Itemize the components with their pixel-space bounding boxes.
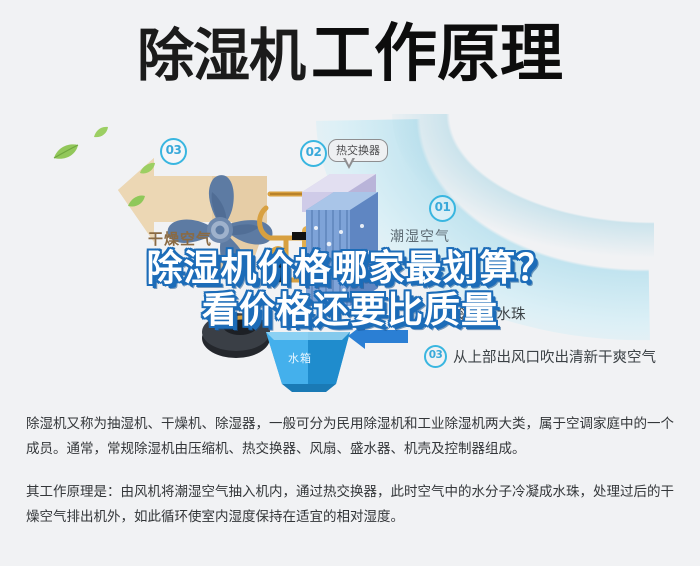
step-badge-03: 03: [160, 138, 187, 165]
page-title: 除湿机工作原理: [0, 22, 700, 85]
leaf-icon: [127, 194, 146, 209]
label-dry-air: 干燥空气: [148, 228, 212, 249]
note-badge-03: 03: [424, 345, 447, 368]
leaf-icon: [139, 162, 156, 176]
diagram-note-condensation: 发器冷凝成水珠: [424, 303, 526, 324]
page-title-suffix: 工作原理: [311, 17, 563, 90]
body-paragraph-1: 除湿机又称为抽湿机、干燥机、除湿器，一般可分为民用除湿机和工业除湿机两大类，属于…: [0, 412, 700, 462]
leaf-icon: [52, 142, 80, 162]
leaf-icon: [93, 126, 109, 139]
heat-exchanger-callout: 热交换器: [328, 139, 388, 162]
diagram-note-outlet-text: 从上部出风口吹出清新干爽空气: [453, 346, 656, 367]
step-badge-01: 01: [429, 195, 456, 222]
diagram-note-outlet: 03 从上部出风口吹出清新干爽空气: [424, 345, 656, 368]
dehumidifier-diagram: 03 02 01 热交换器 干燥空气 潮湿空气 水箱 发器冷凝成水珠 03 从上…: [0, 108, 700, 404]
step-badge-02: 02: [300, 140, 327, 167]
intake-arrow-icon: [364, 330, 408, 343]
heat-exchanger-icon: [296, 166, 382, 308]
label-water-tank: 水箱: [288, 350, 312, 366]
body-paragraph-2: 其工作原理是：由风机将潮湿空气抽入机内，通过热交换器，此时空气中的水分子冷凝成水…: [0, 480, 700, 530]
callout-pointer-icon: [343, 158, 355, 169]
title-banner: 除湿机工作原理: [0, 16, 700, 102]
article-body: 除湿机又称为抽湿机、干燥机、除湿器，一般可分为民用除湿机和工业除湿机两大类，属于…: [0, 412, 700, 530]
page-title-prefix: 除湿机: [137, 23, 305, 89]
label-humid-air: 潮湿空气: [390, 226, 450, 246]
page-root: 除湿机工作原理: [0, 0, 700, 566]
